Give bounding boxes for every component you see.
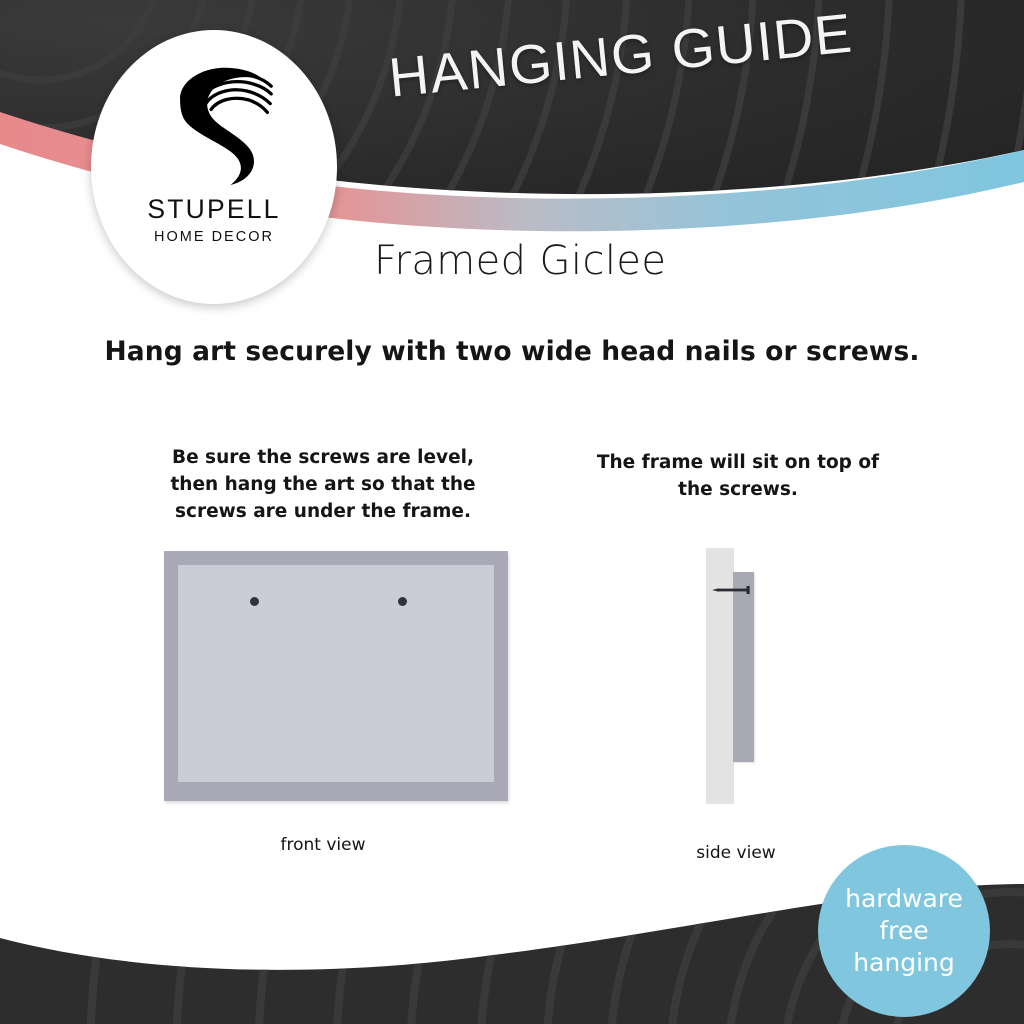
front-view-artwork-area <box>178 565 494 782</box>
hardware-free-hanging-badge: hardware free hanging <box>818 845 990 1017</box>
hardware-badge-text: hardware free hanging <box>845 883 963 979</box>
brand-name: STUPELL <box>147 196 280 223</box>
front-view-diagram <box>164 551 508 801</box>
front-view-note: Be sure the screws are level, then hang … <box>150 445 496 525</box>
nail-icon <box>712 586 754 594</box>
stupell-swoosh-logo-icon <box>151 58 277 188</box>
screw-dot-right <box>398 597 407 606</box>
side-view-frame <box>733 572 754 762</box>
brand-tagline: HOME DECOR <box>154 230 274 245</box>
side-view-note: The frame will sit on top of the screws. <box>588 450 888 504</box>
side-view-label: side view <box>630 843 842 863</box>
hanging-guide-page: STUPELL HOME DECOR HANGING GUIDE Framed … <box>0 0 1024 1024</box>
page-title: HANGING GUIDE <box>386 0 890 110</box>
product-title: Framed Giclee <box>374 238 666 284</box>
front-view-label: front view <box>170 835 476 855</box>
screw-dot-left <box>250 597 259 606</box>
main-instruction: Hang art securely with two wide head nai… <box>0 336 1024 367</box>
brand-logo-badge: STUPELL HOME DECOR <box>91 30 337 304</box>
side-view-diagram <box>706 548 776 804</box>
